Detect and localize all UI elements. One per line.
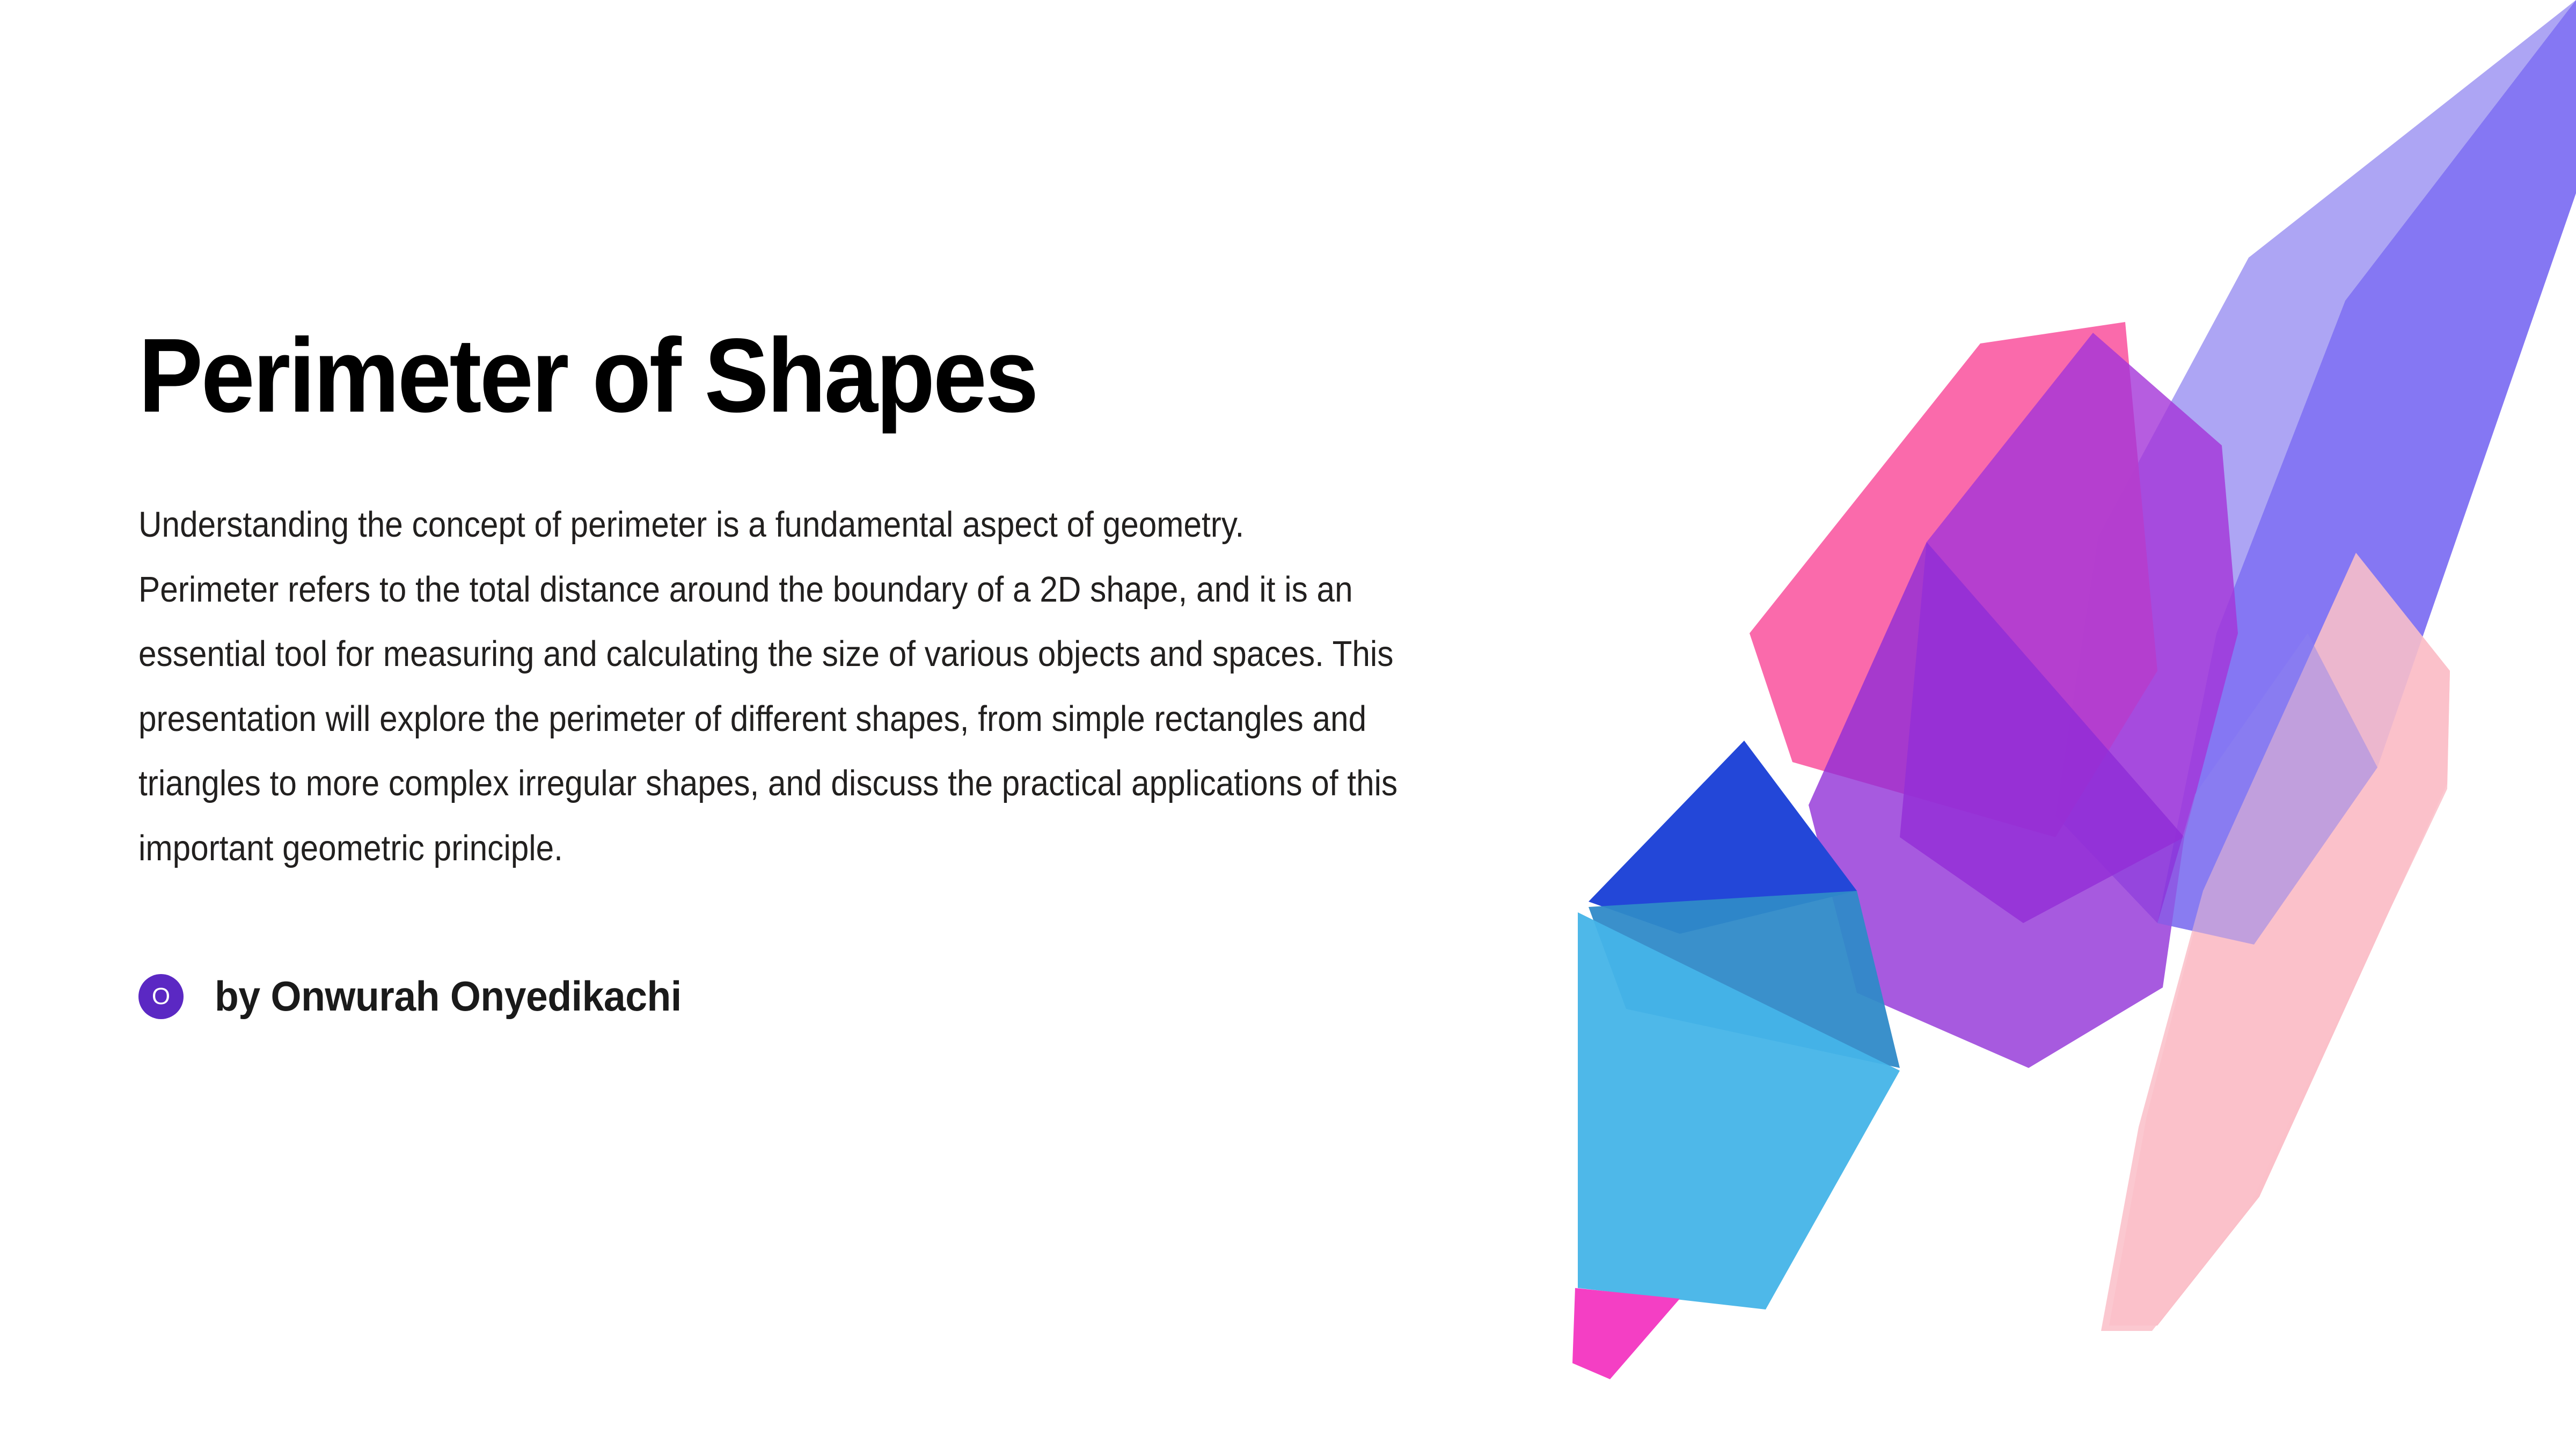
polygon-hot-pink-quad bbox=[1750, 322, 2157, 837]
body-line: triangles to more complex irregular shap… bbox=[138, 751, 1375, 816]
polygon-periwinkle-wedge bbox=[2157, 0, 2576, 945]
page-title: Perimeter of Shapes bbox=[138, 322, 1422, 429]
slide-content: Perimeter of Shapes Understanding the co… bbox=[138, 0, 1534, 1449]
polygon-deep-blue-triangle bbox=[1589, 741, 1857, 934]
body-line: Perimeter refers to the total distance a… bbox=[138, 558, 1375, 623]
body-line: important geometric principle. bbox=[138, 816, 1375, 881]
abstract-polygon-svg bbox=[1556, 0, 2576, 1449]
avatar: O bbox=[138, 974, 184, 1019]
polygon-magenta-triangle bbox=[1572, 1288, 1680, 1379]
polygon-purple-core bbox=[1900, 333, 2238, 923]
body-line: essential tool for measuring and calcula… bbox=[138, 622, 1375, 687]
byline: O by Onwurah Onyedikachi bbox=[138, 972, 1534, 1021]
polygon-pale-pink-overlay bbox=[2101, 553, 2450, 1331]
polygon-cyan-quad bbox=[1578, 912, 1900, 1309]
polygon-pale-pink-blade bbox=[2109, 553, 2450, 1326]
polygon-periwinkle-tail bbox=[2157, 633, 2377, 945]
polygon-steel-blue-triangle bbox=[1589, 891, 1900, 1068]
body-paragraph: Understanding the concept of perimeter i… bbox=[138, 493, 1375, 881]
body-line: Understanding the concept of perimeter i… bbox=[138, 493, 1375, 558]
abstract-polygon-graphic bbox=[1556, 0, 2576, 1449]
byline-author: by Onwurah Onyedikachi bbox=[215, 972, 682, 1021]
polygon-periwinkle-light-wedge bbox=[2055, 0, 2576, 923]
polygon-violet-column bbox=[1809, 542, 2184, 1068]
slide-root: Perimeter of Shapes Understanding the co… bbox=[0, 0, 2576, 1449]
body-line: presentation will explore the perimeter … bbox=[138, 687, 1375, 752]
